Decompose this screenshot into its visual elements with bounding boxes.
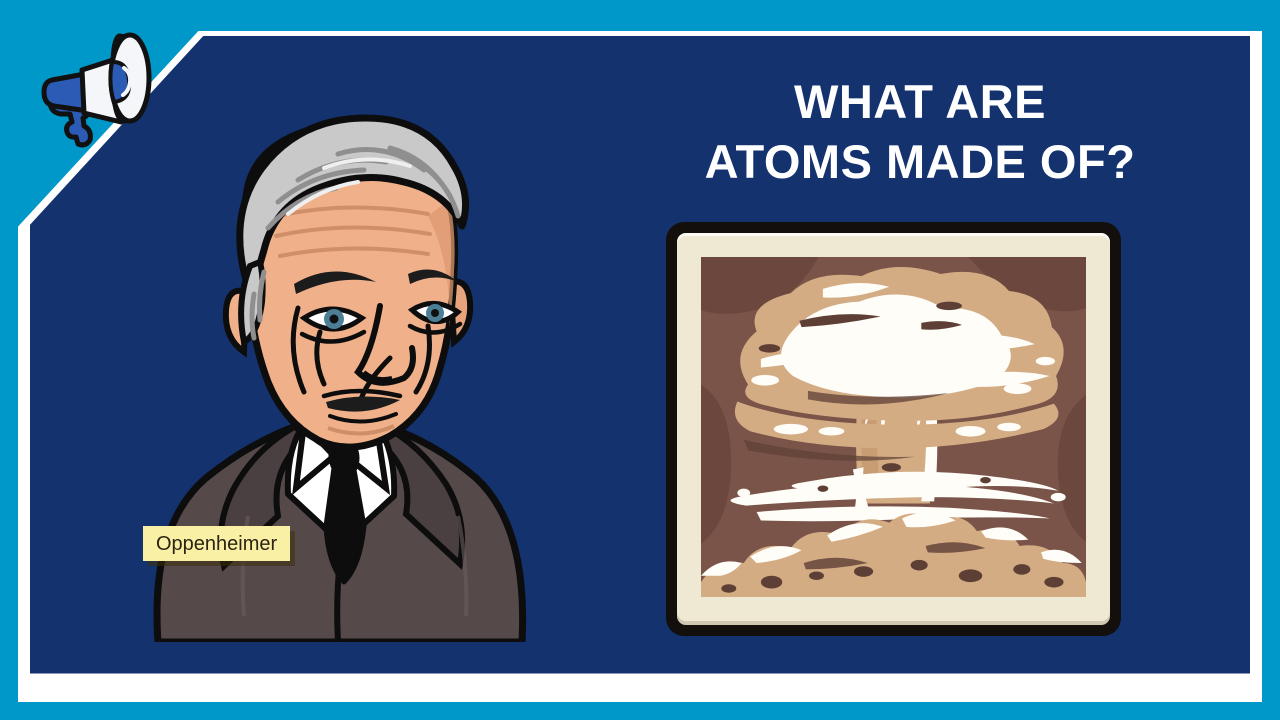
explosion-photo-frame bbox=[666, 222, 1121, 636]
mushroom-cloud-icon bbox=[701, 257, 1086, 597]
portrait-name-label: Oppenheimer bbox=[143, 526, 290, 561]
portrait-tie bbox=[326, 441, 364, 582]
slide-canvas: WHAT ARE ATOMS MADE OF? bbox=[0, 0, 1280, 720]
page-title-line-1: WHAT ARE bbox=[640, 72, 1200, 132]
page-title-line-2: ATOMS MADE OF? bbox=[640, 132, 1200, 192]
portrait-name-text: Oppenheimer bbox=[156, 534, 277, 554]
explosion-photo-mat bbox=[677, 233, 1110, 625]
page-title: WHAT ARE ATOMS MADE OF? bbox=[640, 72, 1200, 192]
